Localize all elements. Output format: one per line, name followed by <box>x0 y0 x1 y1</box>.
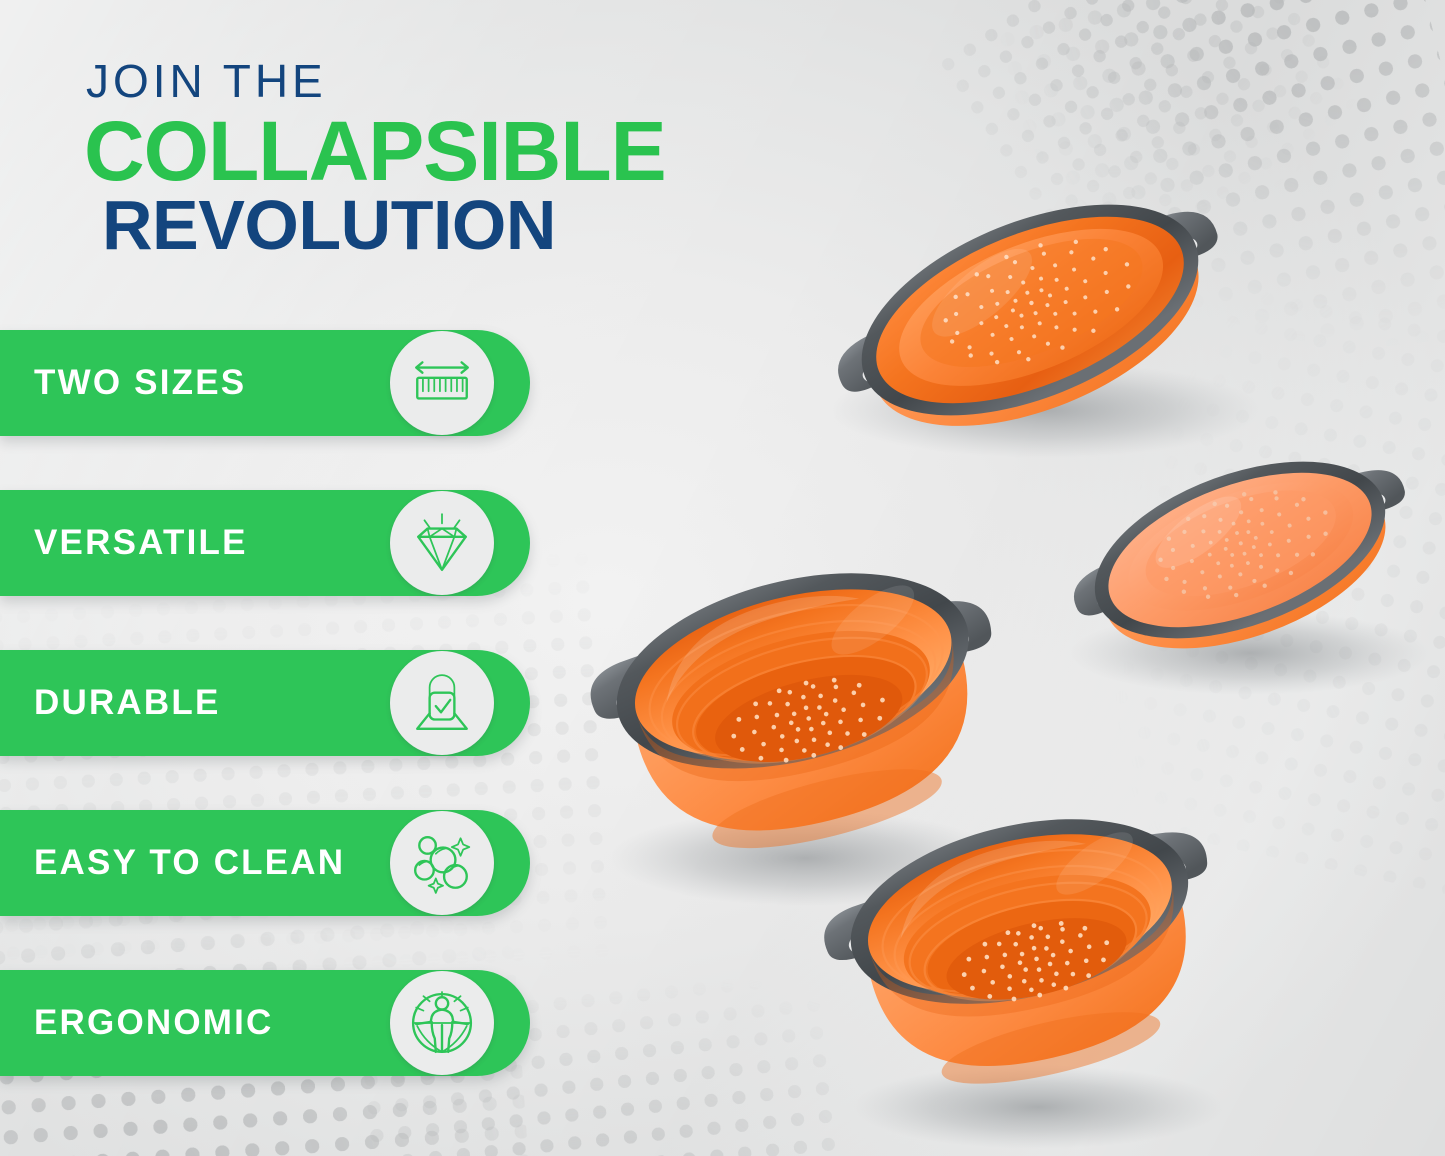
headline-line-1: COLLAPSIBLE <box>84 113 666 190</box>
diamond-gem-icon <box>390 491 494 595</box>
feature-pill-two-sizes[interactable]: TWO SIZES <box>0 330 530 436</box>
soap-bubbles-icon <box>390 811 494 915</box>
feature-label: DURABLE <box>34 683 221 723</box>
feature-list: TWO SIZES VERSATILE <box>0 330 530 1130</box>
headline-eyebrow: JOIN THE <box>86 58 666 104</box>
vitruvian-man-icon <box>390 971 494 1075</box>
feature-pill-ergonomic[interactable]: ERGONOMIC <box>0 970 530 1076</box>
padlock-check-icon <box>390 651 494 755</box>
feature-pill-durable[interactable]: DURABLE <box>0 650 530 756</box>
headline-block: JOIN THE COLLAPSIBLE REVOLUTION <box>84 58 666 259</box>
feature-pill-versatile[interactable]: VERSATILE <box>0 490 530 596</box>
feature-label: EASY TO CLEAN <box>34 843 345 883</box>
colander-expanded-small-bottom <box>770 755 1270 1155</box>
headline-line-2: REVOLUTION <box>102 192 666 259</box>
infographic-canvas: JOIN THE COLLAPSIBLE REVOLUTION TWO SIZE… <box>0 0 1445 1156</box>
colander-collapsed-small-right <box>1015 405 1445 705</box>
feature-label: TWO SIZES <box>34 363 246 403</box>
feature-pill-easy-to-clean[interactable]: EASY TO CLEAN <box>0 810 530 916</box>
feature-label: VERSATILE <box>34 523 248 563</box>
ruler-measure-icon <box>390 331 494 435</box>
feature-label: ERGONOMIC <box>34 1003 274 1043</box>
